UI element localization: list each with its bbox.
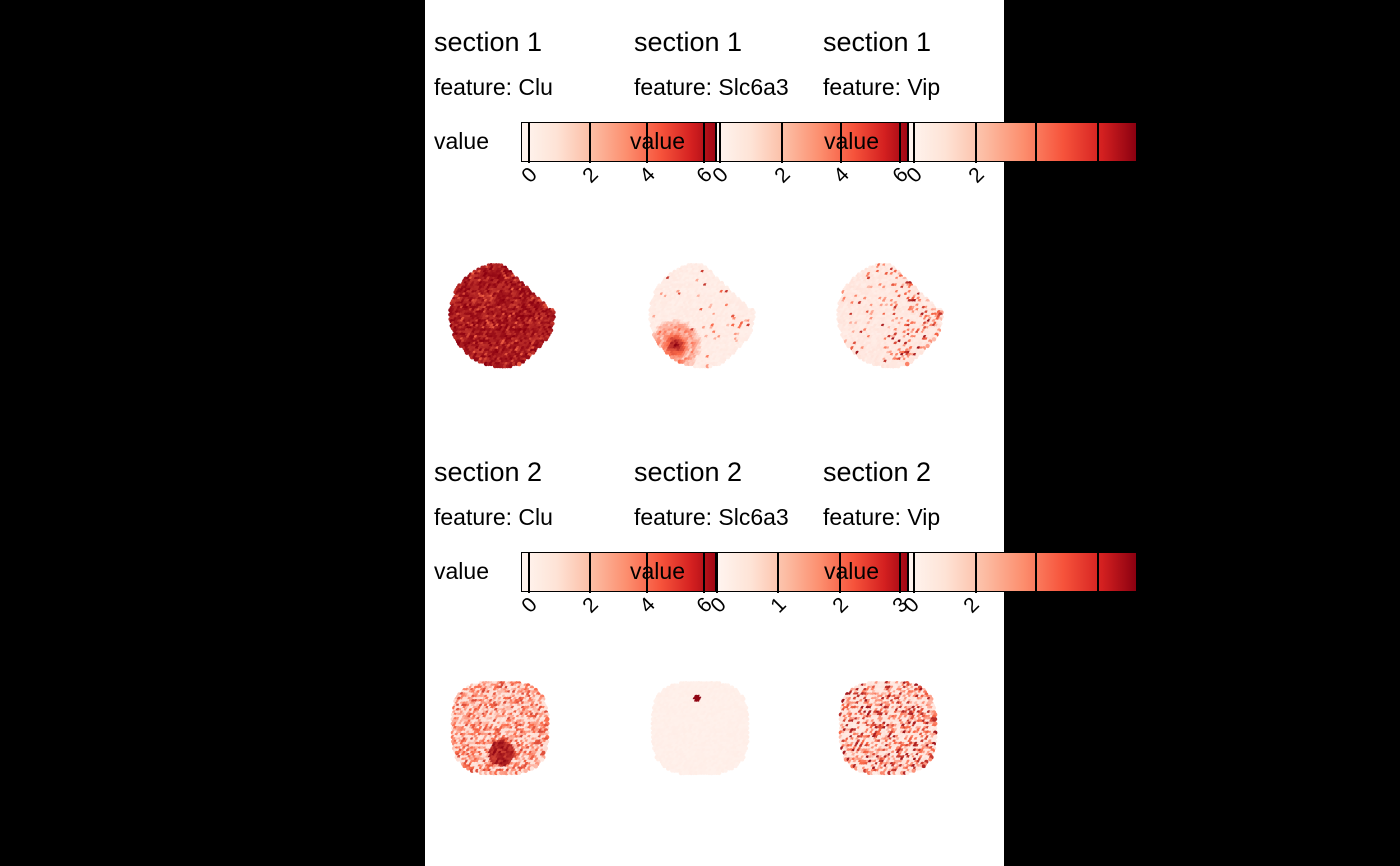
panel-title-s2-slc6a3: section 2 (634, 459, 742, 486)
colorbar-tick (589, 552, 591, 593)
colorbar-tick (913, 552, 915, 593)
colorbar-tick (716, 552, 718, 593)
tissue-plot-s2-slc6a3[interactable] (640, 668, 820, 798)
colorbar-s1-clu[interactable] (521, 122, 716, 162)
panel-title-s1-clu: section 1 (434, 29, 542, 56)
spot-map-s1-vip (828, 250, 1008, 390)
colorbar-tick (781, 122, 783, 163)
spot-map-s2-vip (828, 668, 1008, 798)
colorbar-tick (646, 552, 648, 593)
colorbar-s2-vip[interactable] (908, 552, 1137, 592)
colorbar-gradient (909, 553, 1136, 591)
colorbar-tick (703, 552, 705, 593)
colorbar-tick (1097, 552, 1099, 593)
colorbar-gradient (909, 123, 1136, 161)
spot-map-s2-clu (440, 668, 620, 798)
panel-feature-s1-clu: feature: Clu (434, 76, 553, 99)
colorbar-tick (839, 552, 841, 593)
figure-root: section 1 feature: Clu section 1 feature… (0, 0, 1400, 866)
colorbar-label-s1-clu: value (434, 130, 489, 153)
colorbar-tick (777, 552, 779, 593)
colorbar-tick (703, 122, 705, 163)
panel-feature-s1-slc6a3: feature: Slc6a3 (634, 76, 789, 99)
colorbar-s2-clu[interactable] (521, 552, 716, 592)
colorbar-tick (975, 552, 977, 593)
spot-map-s2-slc6a3 (640, 668, 820, 798)
colorbar-tick (913, 122, 915, 163)
panel-title-s2-vip: section 2 (823, 459, 931, 486)
panel-feature-s2-vip: feature: Vip (823, 506, 940, 529)
tissue-plot-s1-vip[interactable] (828, 250, 1008, 390)
colorbar-s2-slc6a3[interactable] (716, 552, 908, 592)
tissue-plot-s1-slc6a3[interactable] (640, 250, 820, 390)
colorbar-tick (1035, 552, 1037, 593)
colorbar-gradient (717, 553, 907, 591)
colorbar-tick (646, 122, 648, 163)
panel-feature-s2-slc6a3: feature: Slc6a3 (634, 506, 789, 529)
colorbar-tick (1035, 122, 1037, 163)
colorbar-gradient (522, 123, 715, 161)
spot-map-s1-clu (440, 250, 620, 390)
panel-title-s1-slc6a3: section 1 (634, 29, 742, 56)
panel-title-s1-vip: section 1 (823, 29, 931, 56)
colorbar-tick (589, 122, 591, 163)
colorbar-tick (975, 122, 977, 163)
colorbar-tick (899, 122, 901, 163)
colorbar-tick (899, 552, 901, 593)
colorbar-tick (840, 122, 842, 163)
colorbar-s1-slc6a3[interactable] (716, 122, 908, 162)
colorbar-tick (528, 552, 530, 593)
colorbar-tick (528, 122, 530, 163)
panel-feature-s2-clu: feature: Clu (434, 506, 553, 529)
colorbar-label-s2-clu: value (434, 560, 489, 583)
panel-feature-s1-vip: feature: Vip (823, 76, 940, 99)
colorbar-s1-vip[interactable] (908, 122, 1137, 162)
spot-map-s1-slc6a3 (640, 250, 820, 390)
tissue-plot-s1-clu[interactable] (440, 250, 620, 390)
tissue-plot-s2-clu[interactable] (440, 668, 620, 798)
colorbar-gradient (522, 553, 715, 591)
colorbar-gradient (717, 123, 907, 161)
colorbar-tick (719, 122, 721, 163)
tissue-plot-s2-vip[interactable] (828, 668, 1008, 798)
colorbar-tick (1097, 122, 1099, 163)
panel-title-s2-clu: section 2 (434, 459, 542, 486)
